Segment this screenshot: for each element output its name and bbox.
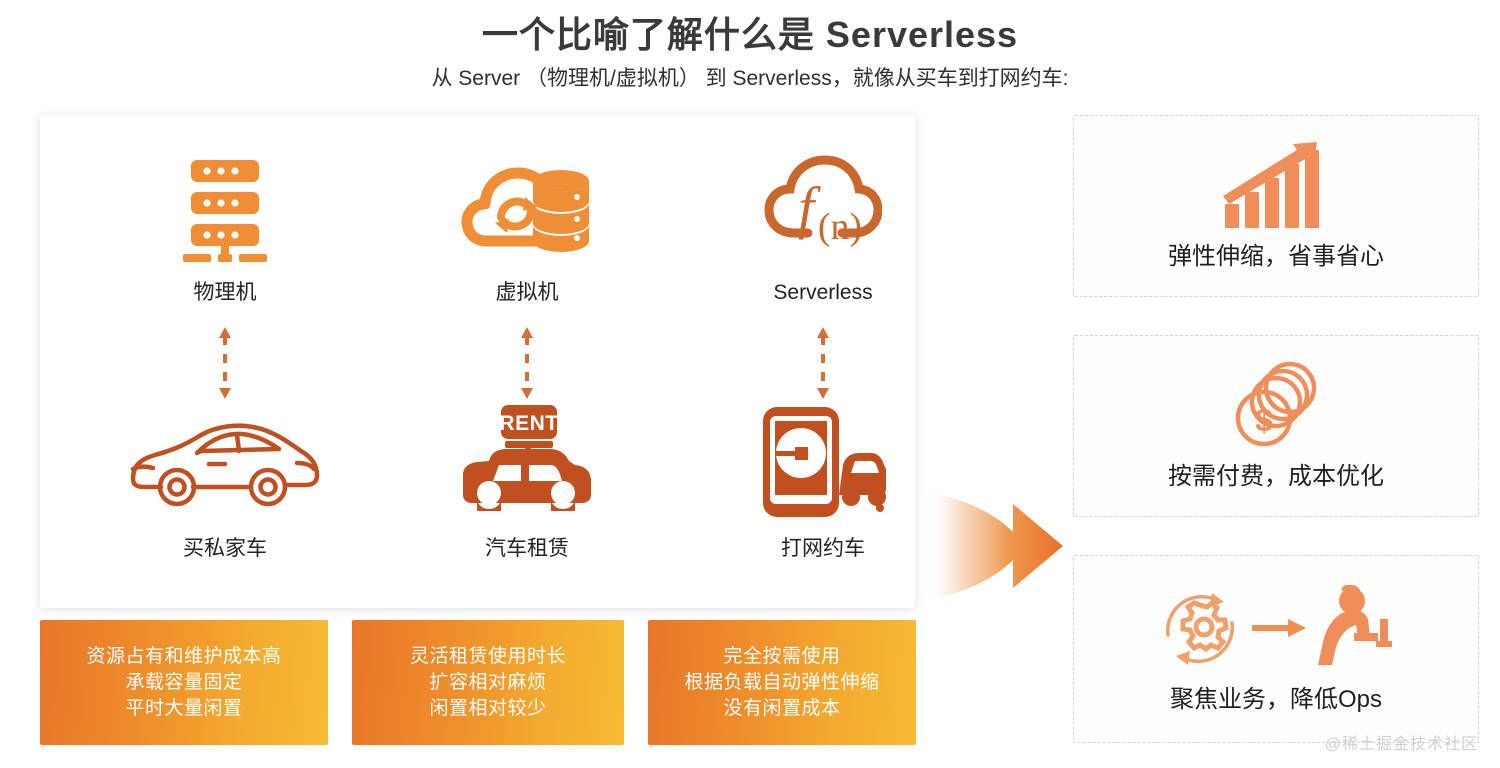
tech-item-physical-machine: 物理机 (125, 147, 325, 307)
summary-box-rental: 灵活租赁使用时长 扩容相对麻烦 闲置相对较少 (352, 620, 624, 745)
benefit-card-focus-business: 聚焦业务，降低Ops (1073, 555, 1479, 743)
dashed-double-arrow-icon (813, 327, 833, 399)
analogy-item-car-rental: RENT 汽车租赁 (427, 403, 627, 563)
benefit-card-pay-per-use: $ 按需付费，成本优化 (1073, 335, 1479, 517)
cloud-function-icon: f (n) (723, 147, 923, 267)
summary-line: 完全按需使用 (723, 644, 840, 670)
tech-item-label: Serverless (723, 279, 923, 307)
comparison-card: 物理机 (40, 115, 915, 608)
right-arrow-gradient-icon (925, 486, 1065, 606)
tech-item-virtual-machine: 虚拟机 (427, 147, 627, 307)
benefit-card-elasticity: 弹性伸缩，省事省心 (1073, 115, 1479, 297)
page-subtitle: 从 Server （物理机/虚拟机） 到 Serverless，就像从买车到打网… (0, 62, 1500, 96)
summary-line: 承载容量固定 (125, 670, 242, 696)
benefit-label: 弹性伸缩，省事省心 (1168, 240, 1384, 274)
sedan-outline-icon (125, 403, 325, 523)
benefit-label: 按需付费，成本优化 (1168, 460, 1384, 494)
summary-line: 根据负载自动弹性伸缩 (684, 670, 879, 696)
summary-line: 平时大量闲置 (125, 696, 242, 722)
analogy-item-own-car: 买私家车 (125, 403, 325, 563)
summary-box-serverless: 完全按需使用 根据负载自动弹性伸缩 没有闲置成本 (648, 620, 916, 745)
stacked-coins-dollar-icon: $ (1228, 358, 1324, 454)
summary-line: 扩容相对麻烦 (429, 670, 546, 696)
svg-text:RENT: RENT (499, 412, 558, 435)
summary-line: 没有闲置成本 (723, 696, 840, 722)
tech-item-label: 物理机 (125, 279, 325, 307)
analogy-item-label: 买私家车 (125, 535, 325, 563)
tech-item-serverless: f (n) Serverless (723, 147, 923, 307)
ride-hailing-phone-icon (723, 403, 923, 523)
summary-box-physical: 资源占有和维护成本高 承载容量固定 平时大量闲置 (40, 620, 328, 745)
svg-text:$: $ (1255, 402, 1273, 438)
dashed-double-arrow-icon (517, 327, 537, 399)
analogy-item-ride-hailing: 打网约车 (723, 403, 923, 563)
page-header: 一个比喻了解什么是 Serverless 从 Server （物理机/虚拟机） … (0, 0, 1500, 96)
tech-item-label: 虚拟机 (427, 279, 627, 307)
watermark: @稀土掘金技术社区 (1325, 730, 1478, 754)
analogy-item-label: 汽车租赁 (427, 535, 627, 563)
analogy-item-label: 打网约车 (723, 535, 923, 563)
svg-text:(n): (n) (818, 206, 862, 248)
rental-car-icon: RENT (427, 403, 627, 523)
dashed-double-arrow-icon (215, 327, 235, 399)
summary-line: 资源占有和维护成本高 (86, 644, 281, 670)
cloud-database-icon (427, 147, 627, 267)
gear-to-person-icon (1156, 581, 1396, 677)
summary-line: 闲置相对较少 (429, 696, 546, 722)
infographic-stage: 物理机 (0, 108, 1500, 768)
growth-bar-chart-icon (1221, 138, 1331, 234)
server-rack-icon (125, 147, 325, 267)
summary-line: 灵活租赁使用时长 (410, 644, 566, 670)
page-title: 一个比喻了解什么是 Serverless (0, 12, 1500, 58)
benefit-label: 聚焦业务，降低Ops (1170, 683, 1382, 717)
